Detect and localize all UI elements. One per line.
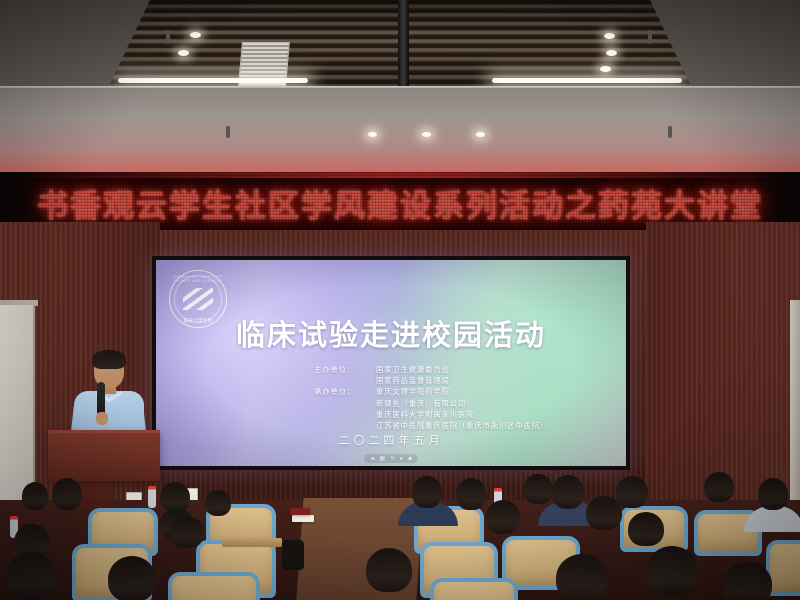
ceiling-spot-2 — [178, 50, 189, 56]
audience-head brown — [586, 496, 622, 530]
ceiling-spot-1 — [190, 32, 201, 38]
audience-head — [724, 562, 772, 600]
audience-head — [6, 552, 56, 600]
sprinkler-head-left — [166, 30, 170, 44]
downlight-1 — [368, 132, 377, 137]
door-left[interactable] — [0, 305, 35, 505]
audience-head brown — [523, 474, 553, 504]
audience-head — [704, 472, 734, 502]
audience-head — [758, 478, 788, 510]
desk-edge-right — [222, 538, 282, 547]
door-right[interactable] — [790, 300, 800, 510]
audience-head — [412, 476, 442, 508]
ceiling-spot-3 — [604, 33, 615, 39]
projection-screen-frame: CHONGQING UNIVERSITY OF ARTS AND SCIENCE… — [152, 256, 630, 470]
folder-on-desk — [290, 508, 310, 515]
water-bottle-1 — [148, 486, 156, 508]
audience-head — [22, 482, 48, 510]
downlight-3 — [476, 132, 485, 137]
audience-head — [486, 500, 520, 534]
ceiling-spot-5 — [600, 66, 611, 72]
projection-screen: CHONGQING UNIVERSITY OF ARTS AND SCIENCE… — [156, 260, 626, 466]
lecture-seat[interactable] — [430, 578, 518, 600]
strip-light-right — [492, 78, 682, 83]
audience-head — [556, 554, 608, 600]
papers-on-desk — [292, 515, 314, 522]
audience-head — [456, 478, 486, 510]
lecture-seat[interactable] — [168, 572, 260, 600]
audience-head — [646, 546, 698, 596]
speaker-hand — [96, 412, 108, 425]
audience-head — [628, 512, 664, 546]
speaker-hair — [92, 350, 126, 369]
bag-1 — [282, 540, 304, 570]
screen-vignette — [156, 260, 626, 466]
audience-head brown — [170, 516, 204, 548]
downlight-2 — [422, 132, 431, 137]
ceiling-spot-4 — [606, 50, 617, 56]
soffit-panel — [0, 88, 800, 172]
microphone-icon — [97, 382, 105, 416]
audience-head — [108, 556, 156, 600]
sprinkler-head-right — [648, 30, 652, 44]
strip-light-left — [118, 78, 308, 83]
audience-head — [366, 548, 412, 592]
audience-head — [552, 475, 584, 509]
led-banner-glow — [0, 172, 800, 178]
audience-head — [52, 478, 82, 510]
soffit-sprinkler-right — [668, 126, 672, 138]
soffit-sprinkler-left — [226, 126, 230, 138]
audience-head — [616, 476, 648, 508]
led-banner-text: 书香观云学生社区学风建设系列活动之药苑大讲堂 — [37, 181, 763, 226]
lecture-hall-photo: 书香观云学生社区学风建设系列活动之药苑大讲堂 CHONGQING UNIVERS… — [0, 0, 800, 600]
podium — [48, 430, 160, 481]
audience-head — [205, 490, 231, 516]
